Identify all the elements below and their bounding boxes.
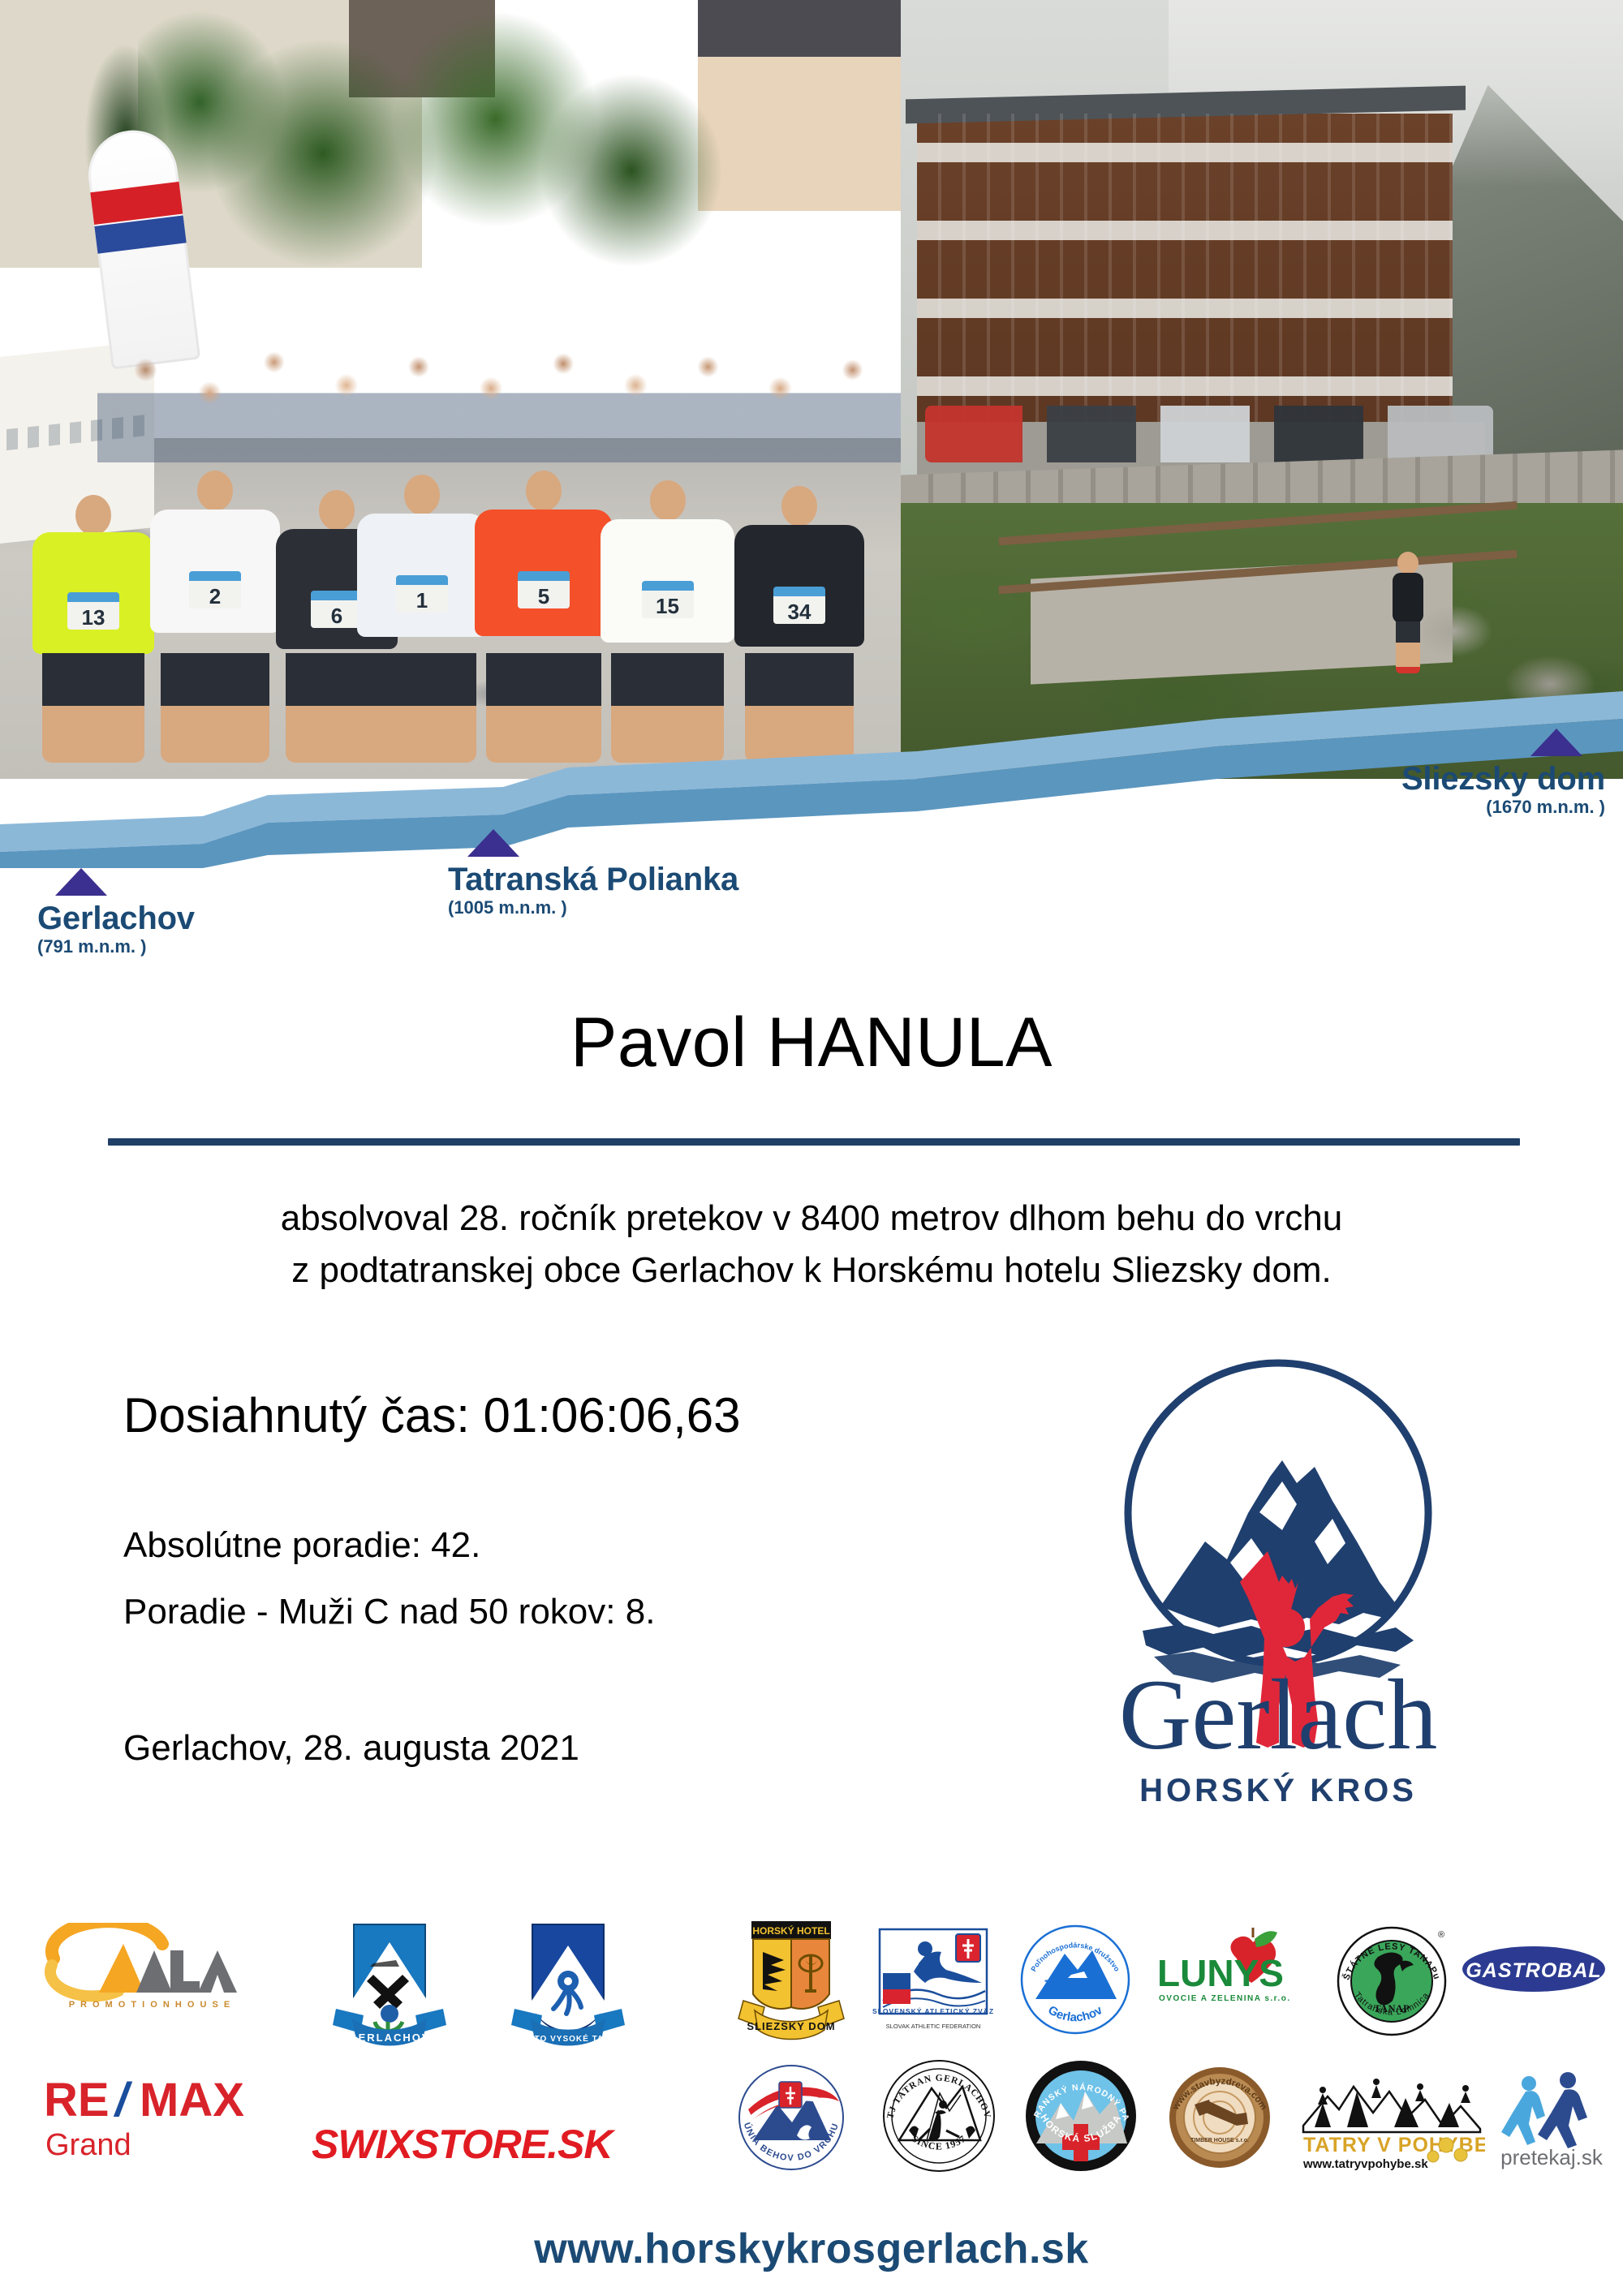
sponsor-remax-grand[interactable]: RE / MAX Grand: [41, 2069, 268, 2174]
runner-figure: 2: [150, 471, 280, 763]
runner-figure: 5: [475, 471, 613, 763]
sponsor-saz-sub: SLOVAK ATHLETIC FEDERATION: [886, 2023, 981, 2030]
sponsor-ajla[interactable]: P R O M O T I O N H O U S E: [41, 1923, 260, 2012]
place-and-date: Gerlachov, 28. augusta 2021: [123, 1728, 579, 1769]
sponsor-pretekaj[interactable]: pretekaj.sk: [1487, 2069, 1617, 2173]
svg-text:/: /: [113, 2074, 133, 2126]
sponsor-tatran-label: TATRAN: [1044, 1978, 1105, 1995]
athlete-name: Pavol HANULA: [0, 1003, 1623, 1083]
sponsor-gastrobal-label: GASTROBAL: [1466, 1959, 1601, 1982]
sponsor-tvp-sub: www.tatryvpohybe.sk: [1302, 2157, 1428, 2171]
start-race-photo: 13 2 6 1 5 15: [0, 0, 901, 779]
sponsor-lunys[interactable]: LUNYS OVOCIE A ZELENINA s.r.o.: [1152, 1926, 1290, 2023]
finish-time: Dosiahnutý čas: 01:06:06,63: [123, 1387, 741, 1443]
sponsor-ajla-sub: P R O M O T I O N H O U S E: [69, 2000, 231, 2010]
runner-figure: 1: [357, 475, 487, 763]
waypoint-name: Sliezsky dom: [1401, 763, 1605, 795]
logo-subtitle: HORSKÝ KROS: [1139, 1771, 1417, 1808]
sponsor-stane-lesy-tanapu[interactable]: TANAP ŠTÁTNE LESY TANAPu Tatranská Lomni…: [1331, 1920, 1453, 2045]
sponsor-drevo-sub: TIMBER HOUSE s.r.o.: [1190, 2138, 1249, 2143]
waypoint-tatranska-polianka: Tatranská Polianka (1005 m.n.m. ): [448, 829, 738, 917]
runner-figure: 34: [734, 483, 864, 763]
sponsor-stavbyzdreva[interactable]: www.stavbyzdreva.com TIMBER HOUSE s.r.o.: [1159, 2054, 1281, 2181]
runner-figure: 15: [601, 479, 734, 763]
waypoint-altitude: (1670 m.n.m. ): [1401, 798, 1605, 816]
mountain-marker-icon: [467, 829, 519, 857]
sponsor-swixstore[interactable]: SWIXSTORE.SK: [308, 2116, 665, 2173]
svg-text:MAX: MAX: [140, 2074, 244, 2126]
sliezsky-dom-photo: [901, 0, 1623, 779]
sponsor-tj-tatran-gerlachov[interactable]: TJ TATRAN GERLACHOV SINCE 1957: [876, 2053, 1002, 2181]
absolute-rank: Absolútne poradie: 42.: [123, 1525, 480, 1566]
sponsor-unia-behov-do-vrchu[interactable]: ÚNIA BEHOV DO VRCHU: [730, 2059, 852, 2181]
sponsor-sliezsky-top-label: HORSKÝ HOTEL: [752, 1924, 829, 1937]
waypoint-gerlachov: Gerlachov (791 m.n.m. ): [37, 868, 195, 956]
sponsor-tatran-gerlachov[interactable]: TATRAN Poľnohospodárske družstvo Gerlach…: [1014, 1921, 1136, 2043]
svg-text:®: ®: [1438, 1930, 1444, 1940]
sponsor-pretekaj-label: pretekaj.sk: [1500, 2145, 1604, 2169]
sponsor-swixstore-label: SWIXSTORE.SK: [312, 2122, 616, 2167]
sponsor-sliezsky-sub: SLIEZSKY DOM: [747, 2020, 835, 2032]
mountain-marker-icon: [1530, 729, 1582, 756]
sponsor-logo-strip: P R O M O T I O N H O U S E GERLACHOV: [0, 1923, 1623, 2231]
sponsor-tatry-v-pohybe[interactable]: TATRY V POHYBE www.tatryvpohybe.sk: [1298, 2067, 1485, 2173]
runner-figure: 13: [32, 495, 154, 763]
sponsor-slovensky-atleticky-zvaz[interactable]: SLOVENSKÝ ATLETICKÝ ZVÄZ SLOVAK ATHLETIC…: [868, 1923, 998, 2044]
svg-text:RE: RE: [44, 2074, 110, 2126]
race-description-line-2: z podtatranskej obce Gerlachov k Horském…: [0, 1245, 1623, 1296]
waypoint-name: Gerlachov: [37, 902, 195, 935]
sponsor-remax-sub: Grand: [45, 2128, 131, 2162]
header-photo-band: 13 2 6 1 5 15: [0, 0, 1623, 779]
sponsor-lunys-sub: OVOCIE A ZELENINA s.r.o.: [1159, 1994, 1290, 2003]
sponsor-gastrobal[interactable]: GASTROBAL: [1461, 1941, 1607, 1997]
sponsor-saz-label: SLOVENSKÝ ATLETICKÝ ZVÄZ: [872, 2006, 994, 2015]
waypoint-sliezsky-dom: Sliezsky dom (1670 m.n.m. ): [1401, 729, 1605, 816]
category-rank: Poradie - Muži C nad 50 rokov: 8.: [123, 1592, 655, 1632]
sponsor-vysoke-tatry-coa[interactable]: MESTO VYSOKÉ TATRY: [503, 1918, 633, 2061]
title-divider: [108, 1138, 1520, 1146]
logo-wordmark: Gerlach: [1119, 1659, 1437, 1770]
runner-figure: [1388, 552, 1428, 673]
sponsor-gerlachov-coa-label: GERLACHOV: [348, 2032, 430, 2044]
sponsor-lunys-label: LUNYS: [1157, 1952, 1284, 1994]
sponsor-vysoke-tatry-label: MESTO VYSOKÉ TATRY: [514, 2033, 622, 2044]
sponsor-sliezsky-dom[interactable]: HORSKÝ HOTEL SLIEZSKY DOM: [730, 1916, 852, 2054]
sponsor-horska-sluzba[interactable]: TATRANSKÝ NÁRODNÝ PARK HORSKÁ SLUŽBA: [1018, 2053, 1144, 2181]
waypoint-name: Tatranská Polianka: [448, 863, 738, 896]
waypoint-altitude: (1005 m.n.m. ): [448, 899, 738, 917]
race-description-line-1: absolvoval 28. ročník pretekov v 8400 me…: [0, 1193, 1623, 1245]
mountain-marker-icon: [55, 868, 107, 896]
race-description: absolvoval 28. ročník pretekov v 8400 me…: [0, 1193, 1623, 1296]
waypoint-altitude: (791 m.n.m. ): [37, 938, 195, 956]
website-url[interactable]: www.horskykrosgerlach.sk: [0, 2225, 1623, 2273]
gerlach-horsky-kros-logo: Gerlach HORSKÝ KROS: [1039, 1339, 1518, 1834]
sponsor-gerlachov-coa[interactable]: GERLACHOV: [325, 1918, 454, 2061]
